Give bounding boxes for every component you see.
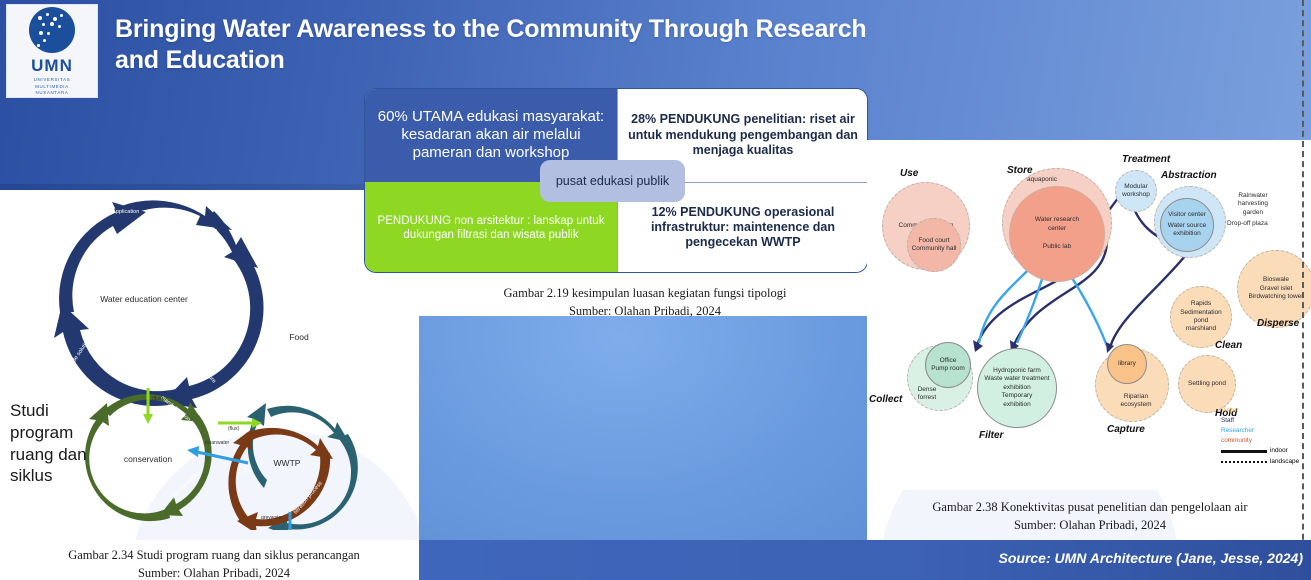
studi-program-label: Studi program ruang dan siklus [10,400,106,487]
bubble-label-birdwatching-tower: Birdwatching tower [1249,293,1304,301]
legend-label-indoor: indoor [1270,446,1288,456]
cycle-diagram: Water education center Food conservation… [0,190,419,580]
group-label-filter: Filter [979,430,1003,441]
bubble-label-food-court: Food court Community hall [910,237,958,254]
quadrant-center-badge: pusat edukasi publik [540,160,685,202]
bottom-source-text: Source: UMN Architecture (Jane, Jesse, 2… [999,550,1304,566]
caption-2-19-line2: Sumber: Olahan Pribadi, 2024 [420,302,870,320]
caption-2-34-line1: Gambar 2.34 Studi program ruang dan sikl… [24,546,404,564]
caption-2-38-line2: Sumber: Olahan Pribadi, 2024 [880,516,1300,534]
bubble-diagram-legend: Visitor Staff Researcher community indoo… [1221,406,1307,467]
segment-label-waste-created: Waste created [271,382,307,388]
caption-gambar-2-38: Gambar 2.38 Konektivitas pusat penelitia… [880,498,1300,534]
bubble-label-water-research-center: Water research center [1026,216,1088,233]
bubble-label-rapids: Rapids [1191,300,1211,308]
umn-logo-wordmark: UMN [31,56,73,76]
umn-logo-subtitle-line1: UNIVERSITAS [34,77,71,82]
bubble-label-hydroponic-farm: Hydroponic farm [993,367,1041,375]
caption-2-38-line1: Gambar 2.38 Konektivitas pusat penelitia… [880,498,1300,516]
legend-item-staff: Staff [1221,416,1307,426]
bubble-label-bioswale: Bioswale [1263,276,1289,284]
bubble-clean: Rapids Sedimentation pond marshland [1170,286,1232,348]
group-label-clean: Clean [1215,340,1242,351]
bubble-label-office: Office [940,357,957,365]
caption-gambar-2-19: Gambar 2.19 kesimpulan luasan kegiatan f… [420,284,870,320]
umn-logo-subtitle: UNIVERSITAS MULTIMEDIA NUSANTARA [34,77,71,96]
legend-label-visitor: Visitor [1221,407,1239,414]
legend-solid-line-icon [1221,450,1267,452]
segment-label-out: out [243,466,250,474]
group-label-capture: Capture [1107,424,1145,435]
bubble-capture-inner: library [1107,344,1147,384]
ring-center-food: Food [279,332,319,342]
bubble-label-modular-workshop: Modular workshop [1118,183,1154,200]
flow-label-flux-2: (flux) [152,396,163,402]
legend-dotted-line-icon [1221,461,1267,463]
bubble-hold: Settling pond [1178,355,1236,413]
bubble-label-aquaponic: aquaponic [1027,176,1057,184]
legend-label-community: community [1221,437,1252,444]
ring-center-wwtp: WWTP [262,458,312,468]
right-edge-dashed-border [1302,0,1304,580]
umn-logo: UMN UNIVERSITAS MULTIMEDIA NUSANTARA [6,4,98,98]
ring-water-education-center [54,200,264,408]
umn-logo-subtitle-line3: NUSANTARA [35,90,68,95]
group-label-collect: Collect [869,394,902,405]
bubble-label-gravel-islet: Gravel islet [1260,285,1293,293]
bubble-label-pump-room: Pump room [931,365,965,373]
umn-logo-mark-icon [29,7,75,53]
legend-item-indoor: indoor [1221,446,1307,456]
label-rainwater-harvesting-garden: Rainwater harvesting garden [1227,192,1279,217]
bubble-label-visitor-center: Visitor center [1168,211,1206,219]
bubble-label-water-source-exhibition: Water source exhibition [1165,222,1209,239]
legend-label-staff: Staff [1221,417,1234,424]
group-label-use: Use [900,168,918,179]
label-dropoff-plaza: Drop-off plaza [1227,220,1268,228]
flow-label-cleanwater: cleanwater [205,440,229,446]
flow-label-compost: compost [266,368,285,374]
legend-label-researcher: Researcher [1221,427,1254,434]
caption-2-19-line1: Gambar 2.19 kesimpulan luasan kegiatan f… [420,284,870,302]
legend-label-landscape: landscape [1270,457,1299,467]
bubble-label-library: library [1118,360,1136,368]
bubble-disperse: Bioswale Gravel islet Birdwatching tower [1237,250,1311,328]
bubble-label-temporary-exhibition: Temporary exhibition [989,392,1045,409]
caption-gambar-2-34: Gambar 2.34 Studi program ruang dan sikl… [24,546,404,580]
group-label-disperse: Disperse [1257,318,1299,329]
bubble-label-dense-forrest: Dense forrest [910,386,944,403]
segment-label-in: in [288,437,292,443]
bubble-label-settling-pond: Settling pond [1188,380,1226,388]
bubble-label-riparian-ecosystem: Riparian ecosystem [1114,393,1158,410]
slide-title: Bringing Water Awareness to the Communit… [115,14,915,75]
group-label-treatment: Treatment [1122,154,1170,165]
bubble-label-marshland: marshland [1186,325,1216,333]
legend-item-researcher: Researcher [1221,426,1307,436]
legend-item-landscape: landscape [1221,457,1307,467]
ring-center-water-education-center: Water education center [76,294,212,304]
bubble-label-sedimentation-pond: Sedimentation pond [1177,309,1225,326]
umn-logo-subtitle-line2: MULTIMEDIA [35,84,69,89]
caption-2-34-line2: Sumber: Olahan Pribadi, 2024 [24,564,404,580]
segment-label-application: Application [112,209,139,215]
bubble-abstraction-inner: Visitor center Water source exhibition [1160,198,1214,252]
legend-item-visitor: Visitor [1221,406,1307,416]
bubble-collect-inner: Office Pump room [925,342,971,388]
slide-canvas: UMN UNIVERSITAS MULTIMEDIA NUSANTARA Bri… [0,0,1311,580]
bubble-filter: Hydroponic farm Waste water treatment ex… [977,348,1057,428]
group-label-abstraction: Abstraction [1161,170,1217,181]
legend-item-community: community [1221,436,1307,446]
ring-center-conservation: conservation [113,454,183,464]
flow-label-greywater: greywater [261,515,283,521]
bubble-label-wastewater-exhibition: Waste water treatment exhibition [981,375,1053,392]
flow-label-flux-1: (flux) [228,426,239,432]
bubble-use-inner: Food court Community hall [907,218,961,272]
bubble-label-public-lab: Public lab [1043,243,1071,251]
bubble-store-inner: Water research center Public lab [1009,186,1105,282]
bubble-treatment: Modular workshop [1115,170,1157,212]
